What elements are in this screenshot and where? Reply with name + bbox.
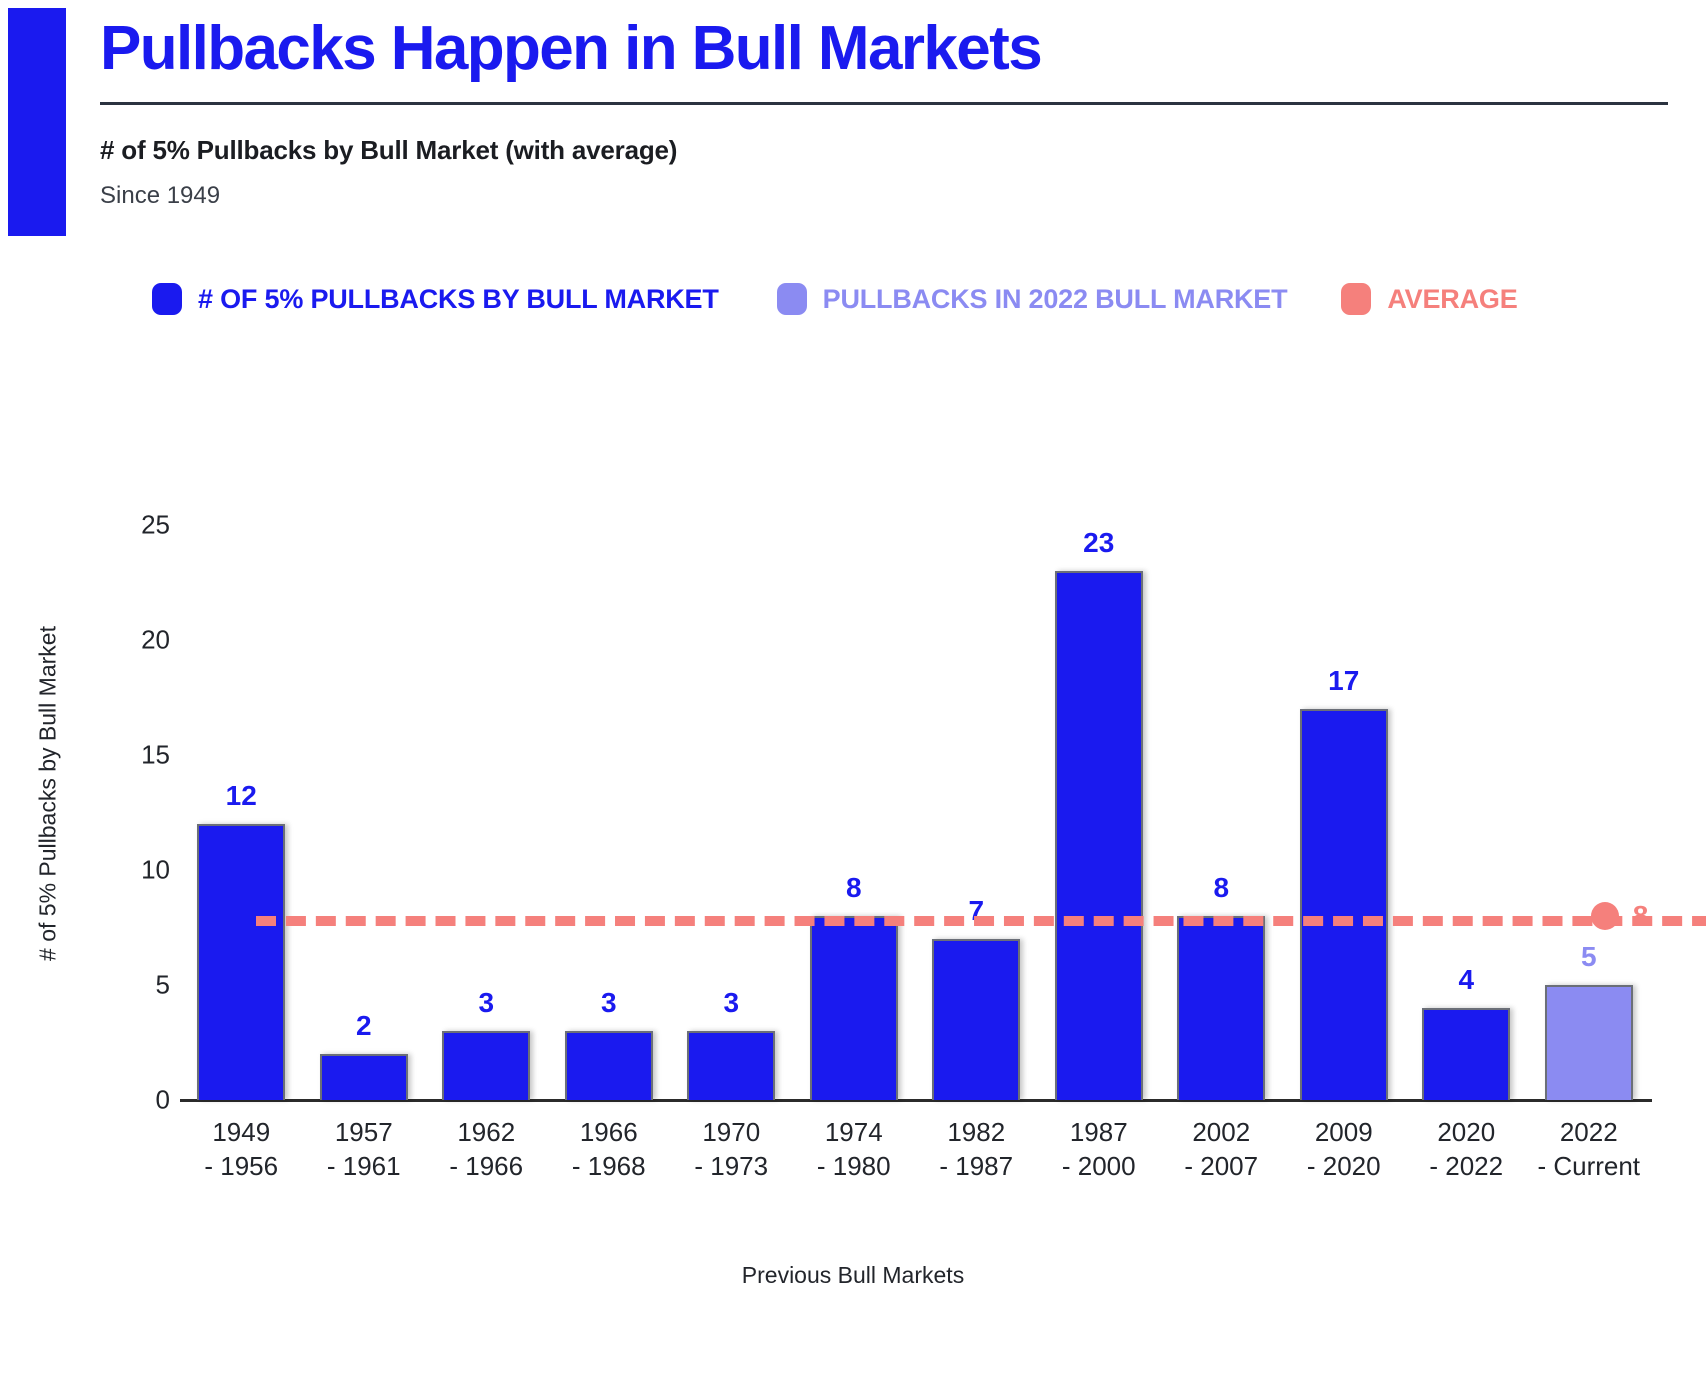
x-axis-title: Previous Bull Markets [0,1262,1706,1289]
x-axis-tick-label: 2022- Current [1509,1116,1669,1184]
bar[interactable] [565,1031,653,1100]
bar-slot: 3 [670,525,793,1100]
legend-item-average[interactable]: AVERAGE [1341,276,1517,322]
x-axis-tick-line: - Current [1509,1150,1669,1184]
bar-slot: 17 [1283,525,1406,1100]
bar-slot: 5 [1528,525,1651,1100]
bar[interactable] [320,1054,408,1100]
y-axis-tick-label: 20 [50,625,170,656]
bar[interactable] [1422,1008,1510,1100]
bar-slot: 2 [303,525,426,1100]
bar[interactable] [442,1031,530,1100]
title-divider [100,102,1668,105]
chart-header: Pullbacks Happen in Bull Markets # of 5%… [0,0,1706,250]
y-axis-tick-label: 10 [50,855,170,886]
bar[interactable] [810,916,898,1100]
chart-legend: # OF 5% PULLBACKS BY BULL MARKET PULLBAC… [152,276,1518,322]
bar-value-label: 4 [1458,964,1474,996]
y-axis-tick-label: 25 [50,510,170,541]
bar-slot: 12 [180,525,303,1100]
bar-value-label: 12 [226,780,257,812]
bar-value-label: 3 [478,987,494,1019]
chart-since-note: Since 1949 [100,182,1706,210]
bar[interactable] [1545,985,1633,1100]
page-title: Pullbacks Happen in Bull Markets [100,18,1706,80]
plot-area: 122333872381745 8 [180,525,1650,1100]
bar-slot: 4 [1405,525,1528,1100]
accent-bar [8,8,66,236]
bar-value-label: 23 [1083,527,1114,559]
bar-value-label: 2 [356,1010,372,1042]
bar-slot: 3 [425,525,548,1100]
y-axis-tick-label: 5 [50,970,170,1001]
bar[interactable] [687,1031,775,1100]
bar[interactable] [1055,571,1143,1100]
bar[interactable] [1300,709,1388,1100]
bar[interactable] [1177,916,1265,1100]
legend-swatch-icon [152,283,182,315]
bar-slot: 23 [1038,525,1161,1100]
bar[interactable] [197,824,285,1100]
chart-subtitle: # of 5% Pullbacks by Bull Market (with a… [100,135,1706,166]
bar-value-label: 8 [846,872,862,904]
average-value-label: 8 [1633,900,1649,932]
legend-item-pullbacks-2022[interactable]: PULLBACKS IN 2022 BULL MARKET [777,276,1288,322]
legend-item-label: AVERAGE [1387,284,1517,315]
legend-swatch-icon [1341,283,1371,315]
bar-value-label: 5 [1581,941,1597,973]
y-axis-tick-label: 0 [50,1085,170,1116]
legend-swatch-icon [777,283,807,315]
bar-slot: 7 [915,525,1038,1100]
bar-slot: 8 [793,525,916,1100]
y-axis-tick-label: 15 [50,740,170,771]
bar-value-label: 17 [1328,665,1359,697]
legend-item-label: PULLBACKS IN 2022 BULL MARKET [823,284,1288,315]
bar-value-label: 3 [601,987,617,1019]
bar[interactable] [932,939,1020,1100]
bar-slot: 3 [548,525,671,1100]
average-end-dot-icon [1591,902,1619,930]
title-area: Pullbacks Happen in Bull Markets # of 5%… [100,0,1706,210]
chart-plot-wrapper: # of 5% Pullbacks by Bull Market 0510152… [0,440,1706,1382]
legend-item-pullbacks-by-bull-market[interactable]: # OF 5% PULLBACKS BY BULL MARKET [152,276,719,322]
x-axis-tick-line: 2022 [1509,1116,1669,1150]
bar-slot: 8 [1160,525,1283,1100]
legend-item-label: # OF 5% PULLBACKS BY BULL MARKET [198,284,719,315]
average-line [256,916,1706,926]
bar-value-label: 8 [1213,872,1229,904]
bar-value-label: 3 [723,987,739,1019]
